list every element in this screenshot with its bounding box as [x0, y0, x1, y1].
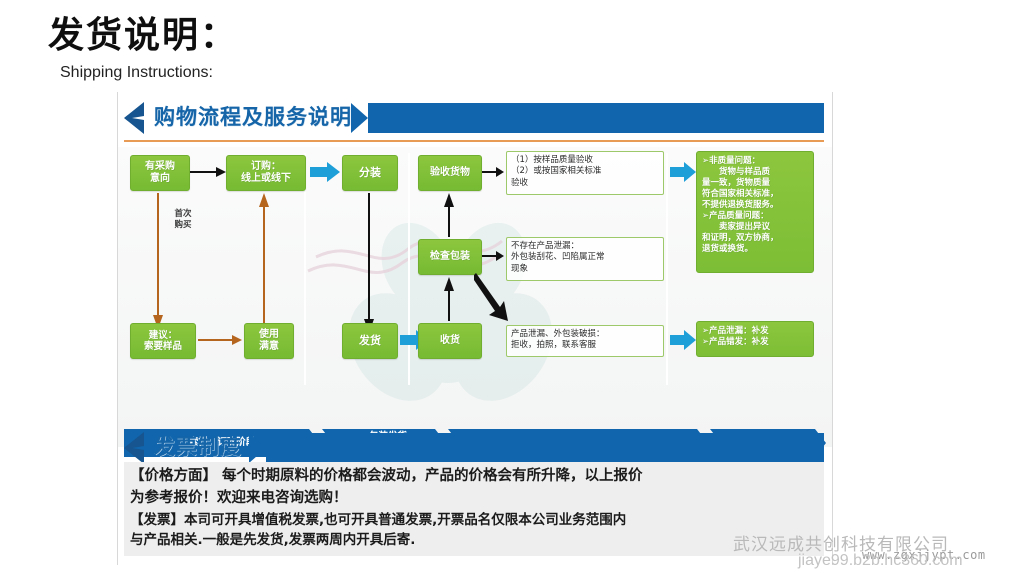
quality-policy-line-9: 退货或换货。 — [702, 244, 808, 255]
flow-box-repack-label: 分装 — [357, 167, 383, 180]
flow-note-damaged: 产品泄漏、外包装破损： 拒收，拍照，联系客服 — [506, 325, 664, 357]
first-purchase-line2: 购买 — [166, 220, 200, 231]
invoice-banner-title: 发票制度 — [154, 432, 242, 464]
arrow-inspect-to-acceptance — [482, 166, 504, 178]
arrow-to-remedy-blue — [670, 329, 696, 351]
acceptance-line-3: 验收 — [511, 178, 659, 189]
flow-column-divider — [666, 153, 668, 385]
arrow-order-to-repack-blue — [310, 161, 340, 183]
invoice-section-banner: 发票制度 — [118, 430, 832, 466]
shipping-figure-panel: 购物流程及服务说明 有采购 意向 — [118, 92, 832, 565]
process-flow-chart: 有采购 意向 订购： 线上或线下 分装 验收货物 — [118, 147, 832, 447]
flow-box-receive[interactable]: 收货 — [418, 323, 482, 359]
no-leak-line-1: 不存在产品泄漏： — [511, 241, 659, 252]
flow-box-check-package[interactable]: 检查包装 — [418, 239, 482, 275]
quality-policy-line-5: 不提供退换货服务。 — [702, 200, 808, 211]
arrow-to-quality-policy-blue — [670, 161, 696, 183]
flower-watermark-icon — [298, 197, 628, 427]
chevron-left-icon — [124, 432, 144, 464]
flow-note-acceptance: （1）按样品质量验收 （2）或按国家相关标准 验收 — [506, 151, 664, 195]
damaged-line-2: 拒收，拍照，联系客服 — [511, 340, 659, 351]
flow-box-satisfied-line1: 使用 — [257, 329, 281, 341]
page-title: 发货说明： — [48, 6, 238, 58]
flow-box-intent-line2: 意向 — [143, 173, 177, 185]
no-leak-line-3: 现象 — [511, 264, 659, 275]
flow-banner-underline — [124, 140, 824, 142]
arrow-sample-to-satisfied — [198, 334, 242, 346]
chevron-left-icon — [124, 102, 144, 134]
quality-policy-line-1: ➢非质量问题： — [702, 156, 808, 167]
damaged-line-1: 产品泄漏、外包装破损： — [511, 329, 659, 340]
quality-policy-line-3: 量一致，货物质量 — [702, 178, 808, 189]
flow-box-satisfied[interactable]: 使用 满意 — [244, 323, 294, 359]
arrow-check-to-inspect — [443, 193, 455, 237]
flow-box-repack[interactable]: 分装 — [342, 155, 398, 191]
flow-result-remedy: ➢产品泄漏：补发 ➢产品错发：补发 — [696, 321, 814, 357]
quality-policy-line-8: 和证明，双方协商， — [702, 233, 808, 244]
flow-box-suggest-sample[interactable]: 建议： 索要样品 — [130, 323, 196, 359]
no-leak-line-2: 外包装刮花、凹陷属正常 — [511, 252, 659, 263]
page-subtitle: Shipping Instructions: — [60, 64, 213, 82]
flow-box-intent[interactable]: 有采购 意向 — [130, 155, 190, 191]
flow-note-no-leak: 不存在产品泄漏： 外包装刮花、凹陷属正常 现象 — [506, 237, 664, 281]
flow-edge-label-first-purchase: 首次 购买 — [166, 209, 200, 230]
quality-policy-line-7: 卖家提出异议 — [702, 222, 808, 233]
invoice-banner-bar — [266, 433, 824, 463]
acceptance-line-2: （2）或按国家相关标准 — [511, 166, 659, 177]
flow-box-inspect-goods-label: 验收货物 — [428, 167, 472, 179]
flow-box-ship[interactable]: 发货 — [342, 323, 398, 359]
remedy-line-2: ➢产品错发：补发 — [702, 337, 808, 348]
arrow-receive-to-check — [443, 277, 455, 321]
secondary-url-watermark: jiaye99.b2b.hc360.com — [798, 552, 963, 570]
flow-box-suggest-line1: 建议： — [142, 330, 184, 341]
flow-result-quality-policy: ➢非质量问题： 货物与样品质 量一致，货物质量 符合国家相关标准， 不提供退换货… — [696, 151, 814, 273]
arrow-intent-to-order — [190, 166, 226, 178]
invoice-line-2: 为参考报价！欢迎来电咨询选购！ — [130, 488, 818, 510]
first-purchase-line1: 首次 — [166, 209, 200, 220]
panel-right-border — [832, 92, 833, 565]
arrow-check-to-noleak — [482, 250, 504, 262]
flow-box-satisfied-line2: 满意 — [257, 341, 281, 353]
arrow-repack-to-ship — [363, 193, 375, 333]
flow-box-inspect-goods[interactable]: 验收货物 — [418, 155, 482, 191]
acceptance-line-1: （1）按样品质量验收 — [511, 155, 659, 166]
invoice-line-3: 【发票】本司可开具增值税发票,也可开具普通发票,开票品名仅限本公司业务范围内 — [130, 510, 818, 530]
flow-box-intent-line1: 有采购 — [143, 161, 177, 173]
quality-policy-line-4: 符合国家相关标准， — [702, 189, 808, 200]
invoice-section: 发票制度 【价格方面】 每个时期原料的价格都会波动，产品的价格会有所升降，以上报… — [118, 422, 832, 466]
arrow-intent-to-sample — [152, 193, 164, 329]
flow-box-suggest-line2: 索要样品 — [142, 341, 184, 352]
flow-section-banner: 购物流程及服务说明 — [118, 100, 832, 136]
invoice-text-block: 【价格方面】 每个时期原料的价格都会波动，产品的价格会有所升降，以上报价 为参考… — [124, 462, 824, 556]
arrow-satisfied-to-order — [258, 193, 270, 329]
invoice-line-4: 与产品相关.一般是先发货,发票两周内开具后寄. — [130, 530, 818, 550]
quality-policy-line-2: 货物与样品质 — [702, 167, 808, 178]
flow-banner-title: 购物流程及服务说明 — [154, 102, 352, 134]
flow-box-check-package-label: 检查包装 — [428, 251, 472, 263]
flow-banner-bar — [368, 103, 824, 133]
flow-box-order-line1: 订购： — [239, 161, 293, 173]
flow-box-ship-label: 发货 — [357, 335, 383, 348]
flow-box-order-line2: 线上或线下 — [239, 173, 293, 185]
flow-box-receive-label: 收货 — [438, 335, 462, 347]
quality-policy-line-6: ➢产品质量问题： — [702, 211, 808, 222]
remedy-line-1: ➢产品泄漏：补发 — [702, 326, 808, 337]
invoice-line-1: 【价格方面】 每个时期原料的价格都会波动，产品的价格会有所升降，以上报价 — [130, 466, 818, 488]
flow-box-order[interactable]: 订购： 线上或线下 — [226, 155, 306, 191]
arrow-check-to-damaged-diagonal — [474, 271, 516, 323]
